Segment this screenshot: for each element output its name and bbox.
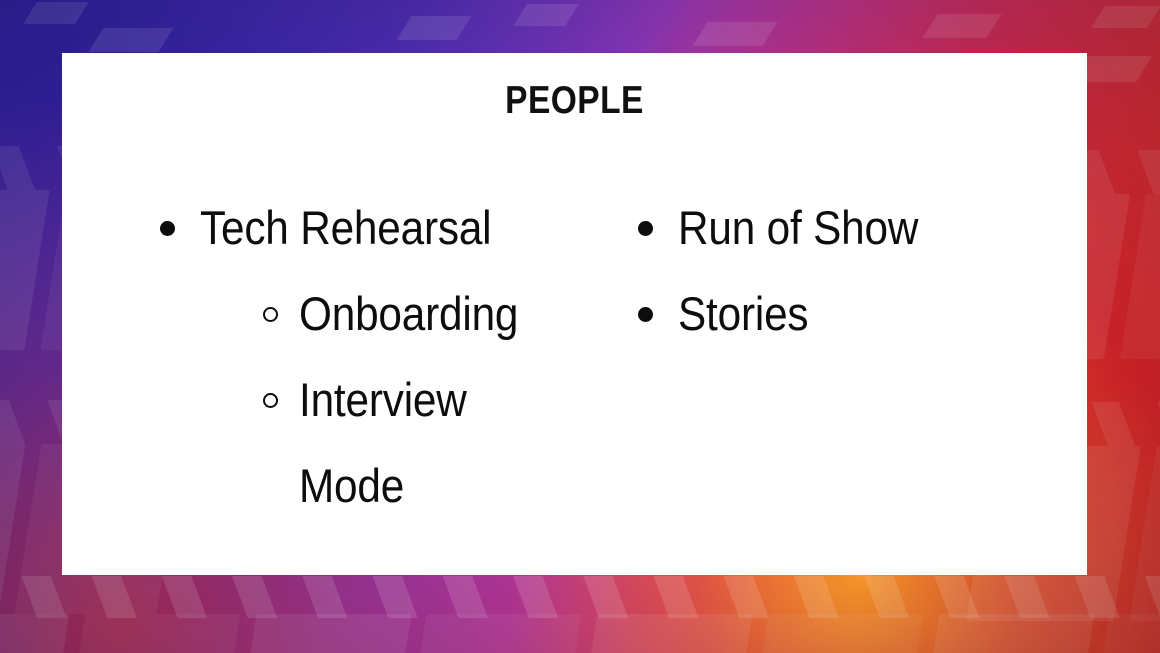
list-item[interactable]: Run of Show — [638, 185, 1087, 271]
list-item[interactable]: Stories — [638, 271, 1087, 357]
filled-disc-bullet-icon — [638, 221, 653, 236]
list-item-label: Onboarding — [299, 271, 554, 357]
bullet-list-level1: Run of Show Stories — [638, 185, 1087, 357]
left-column: Tech Rehearsal Onboarding Interview Mode — [62, 185, 582, 529]
hollow-circle-bullet-icon — [263, 307, 278, 322]
list-item-label: Stories — [678, 271, 1046, 357]
filled-disc-bullet-icon — [638, 307, 653, 322]
list-item-label: Run of Show — [678, 185, 1046, 271]
list-item[interactable]: Interview Mode — [263, 357, 582, 529]
content-card: PEOPLE Tech Rehearsal Onboarding — [62, 53, 1087, 575]
list-item-label: Interview Mode — [299, 357, 554, 529]
list-item[interactable]: Tech Rehearsal — [160, 185, 582, 271]
filled-disc-bullet-icon — [160, 221, 175, 236]
list-item[interactable]: Onboarding — [263, 271, 582, 357]
list-item-label: Tech Rehearsal — [200, 185, 544, 271]
bullet-list-level1: Tech Rehearsal — [160, 185, 582, 271]
bullet-list-level2: Onboarding Interview Mode — [160, 271, 582, 529]
bullet-columns: Tech Rehearsal Onboarding Interview Mode — [62, 185, 1087, 529]
right-column: Run of Show Stories — [582, 185, 1087, 529]
page-title: PEOPLE — [134, 79, 1016, 123]
presentation-slide: PEOPLE Tech Rehearsal Onboarding — [0, 0, 1160, 653]
hollow-circle-bullet-icon — [263, 393, 278, 408]
